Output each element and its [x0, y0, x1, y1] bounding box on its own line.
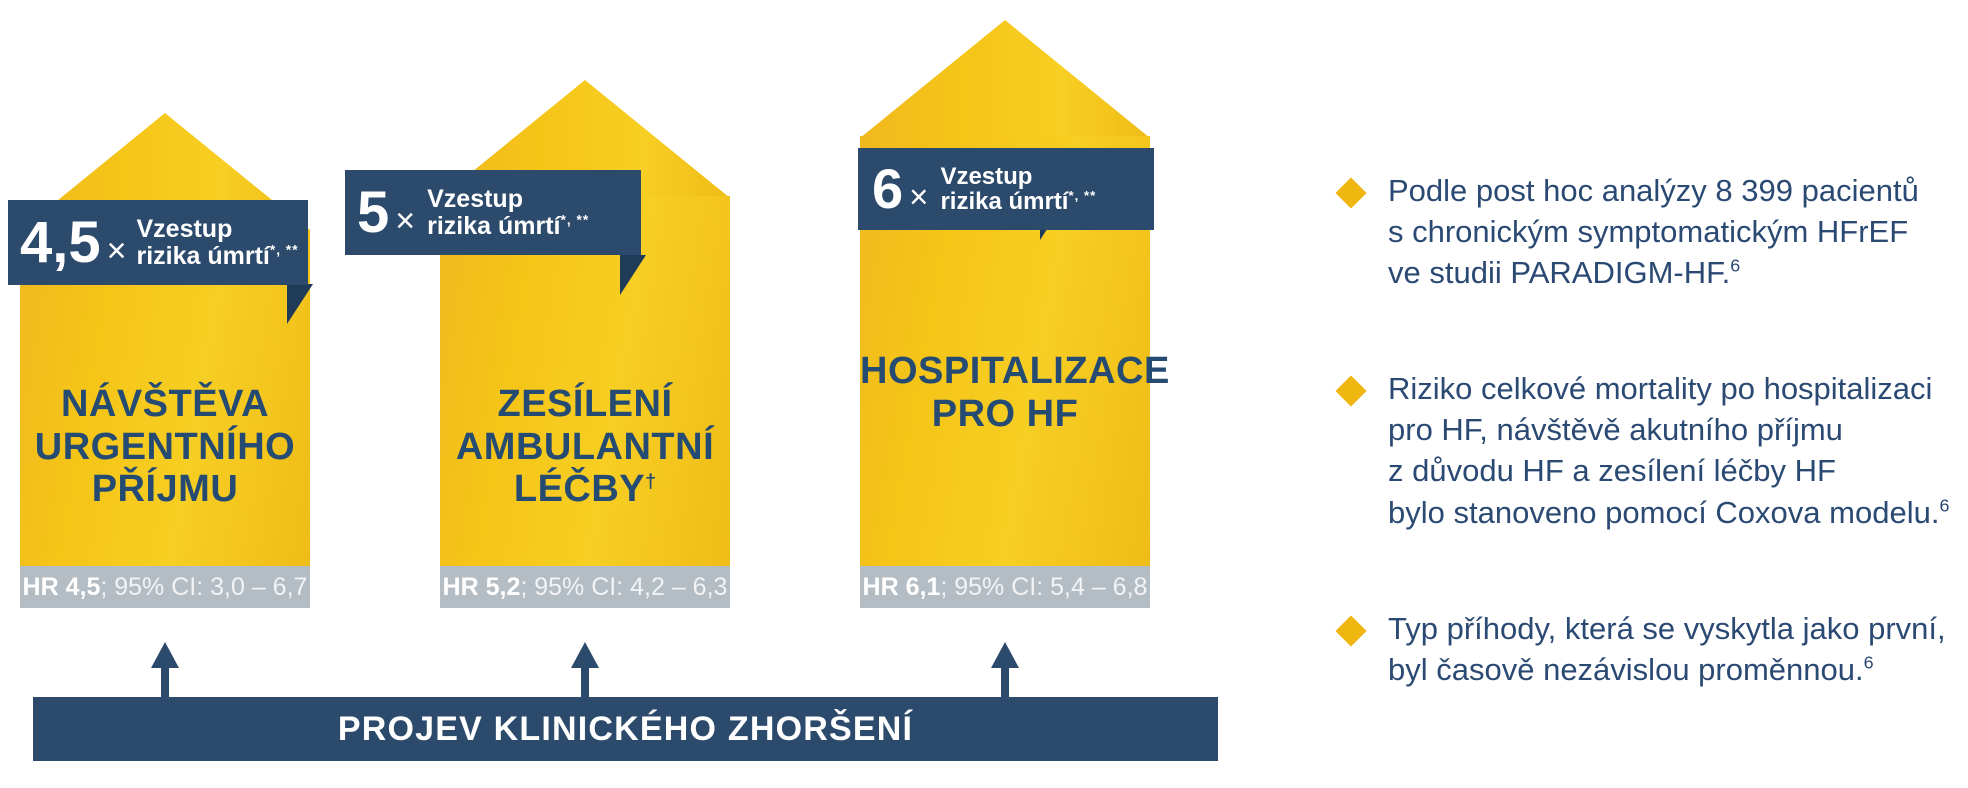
pillar-label-line: LÉČBY† — [440, 468, 730, 511]
up-arrow-icon — [990, 642, 1020, 704]
bullet-line: Riziko celkové mortality po hospitalizac… — [1388, 371, 1932, 406]
risk-line-1: Vzestup — [137, 216, 299, 243]
pillar-label-line: URGENTNÍHO — [20, 426, 310, 469]
bullet-line: bylo stanoveno pomocí Coxova modelu.6 — [1388, 495, 1949, 530]
hr-ci: ; 95% CI: 5,4 – 6,8 — [940, 573, 1147, 602]
times-symbol: × — [395, 206, 415, 237]
multiplier-value: 5 — [357, 186, 389, 239]
bullet-mortality-risk: Riziko celkové mortality po hospitalizac… — [1340, 368, 1949, 533]
hr-bar: HR 6,1; 95% CI: 5,4 – 6,8 — [860, 566, 1150, 608]
risk-line-1: Vzestup — [940, 164, 1096, 189]
diamond-bullet-icon — [1335, 177, 1366, 208]
bullet-time-dependent: Typ příhody, která se vyskytla jako prvn… — [1340, 608, 1946, 690]
pillar-label-superscript: † — [645, 470, 656, 492]
pillar-label-line: PRO HF — [860, 393, 1150, 436]
reference-superscript: 6 — [1730, 256, 1740, 276]
times-symbol: × — [909, 182, 928, 212]
risk-line-1: Vzestup — [427, 186, 589, 213]
bullet-line: byl časově nezávislou proměnnou.6 — [1388, 652, 1874, 687]
hr-bar: HR 5,2; 95% CI: 4,2 – 6,3 — [440, 566, 730, 608]
pillar-outpatient-intensification: ZESÍLENÍ AMBULANTNÍ LÉČBY† HR 5,2; 95% C… — [440, 80, 730, 615]
up-arrow-icon — [570, 642, 600, 704]
pillar-label-line: NÁVŠTĚVA — [20, 383, 310, 426]
pillar-label: HOSPITALIZACE PRO HF — [860, 350, 1150, 435]
risk-superscript: *, ** — [270, 242, 299, 257]
risk-superscript: *, ** — [561, 212, 590, 227]
pillar-roof-icon — [860, 20, 1150, 138]
callout-tail — [620, 255, 646, 295]
infographic-canvas: NÁVŠTĚVA URGENTNÍHO PŘÍJMU HR 4,5; 95% C… — [0, 0, 1968, 788]
pillar-hf-hospitalization: HOSPITALIZACE PRO HF HR 6,1; 95% CI: 5,4… — [860, 20, 1150, 615]
callout-tail — [287, 284, 313, 324]
up-arrow-icon — [150, 642, 180, 704]
bullet-text: Typ příhody, která se vyskytla jako prvn… — [1388, 608, 1946, 690]
hr-value: HR 5,2 — [443, 573, 521, 602]
risk-line-2: rizika úmrtí*, ** — [137, 243, 299, 270]
callout-risk-text: Vzestup rizika úmrtí*, ** — [137, 216, 299, 269]
bullet-line: pro HF, návštěvě akutního příjmu — [1388, 412, 1843, 447]
hr-ci: ; 95% CI: 3,0 – 6,7 — [100, 573, 307, 602]
pillar-label: ZESÍLENÍ AMBULANTNÍ LÉČBY† — [440, 383, 730, 511]
bullet-text: Riziko celkové mortality po hospitalizac… — [1388, 368, 1949, 533]
notes-panel: Podle post hoc analýzy 8 399 pacientů s … — [1340, 170, 1960, 730]
bullet-line: Podle post hoc analýzy 8 399 pacientů — [1388, 173, 1919, 208]
bottom-bar-label: PROJEV KLINICKÉHO ZHORŠENÍ — [338, 710, 913, 749]
hr-ci: ; 95% CI: 4,2 – 6,3 — [520, 573, 727, 602]
risk-line-2: rizika úmrtí*, ** — [427, 213, 589, 240]
pillar-label-line: HOSPITALIZACE — [860, 350, 1150, 393]
pillar-label-line: PŘÍJMU — [20, 468, 310, 511]
hr-value: HR 4,5 — [23, 573, 101, 602]
pillar-emergency-visit: NÁVŠTĚVA URGENTNÍHO PŘÍJMU HR 4,5; 95% C… — [20, 113, 310, 613]
callout-multiplier: 6 × — [872, 163, 928, 215]
risk-line-2: rizika úmrtí*, ** — [940, 189, 1096, 214]
diamond-bullet-icon — [1335, 375, 1366, 406]
times-symbol: × — [107, 236, 127, 267]
callout-multiplier: 4,5 × — [20, 216, 127, 269]
pillar-label-line: AMBULANTNÍ — [440, 426, 730, 469]
reference-superscript: 6 — [1864, 653, 1874, 673]
hr-value: HR 6,1 — [863, 573, 941, 602]
bullet-line: s chronickým symptomatickým HFrEF — [1388, 214, 1908, 249]
bullet-post-hoc: Podle post hoc analýzy 8 399 pacientů s … — [1340, 170, 1919, 294]
callout-multiplier: 5 × — [357, 186, 415, 239]
reference-superscript: 6 — [1939, 495, 1949, 515]
multiplier-value: 6 — [872, 163, 903, 215]
callout-risk-text: Vzestup rizika úmrtí*, ** — [940, 164, 1096, 215]
bullet-text: Podle post hoc analýzy 8 399 pacientů s … — [1388, 170, 1919, 294]
bullet-line: z důvodu HF a zesílení léčby HF — [1388, 453, 1836, 488]
hr-bar: HR 4,5; 95% CI: 3,0 – 6,7 — [20, 566, 310, 608]
bullet-line: Typ příhody, která se vyskytla jako prvn… — [1388, 611, 1946, 646]
callout-risk-text: Vzestup rizika úmrtí*, ** — [427, 186, 589, 239]
callout-emergency-visit: 4,5 × Vzestup rizika úmrtí*, ** — [8, 200, 308, 285]
bottom-bar-clinical-worsening: PROJEV KLINICKÉHO ZHORŠENÍ — [33, 697, 1218, 761]
pillar-label-line: ZESÍLENÍ — [440, 383, 730, 426]
diamond-bullet-icon — [1335, 615, 1366, 646]
bullet-line: ve studii PARADIGM-HF.6 — [1388, 255, 1740, 290]
risk-superscript: *, ** — [1068, 188, 1096, 203]
callout-hf-hospitalization: 6 × Vzestup rizika úmrtí*, ** — [858, 148, 1154, 230]
multiplier-value: 4,5 — [20, 216, 101, 269]
callout-outpatient-intensification: 5 × Vzestup rizika úmrtí*, ** — [345, 170, 641, 255]
pillar-label: NÁVŠTĚVA URGENTNÍHO PŘÍJMU — [20, 383, 310, 511]
